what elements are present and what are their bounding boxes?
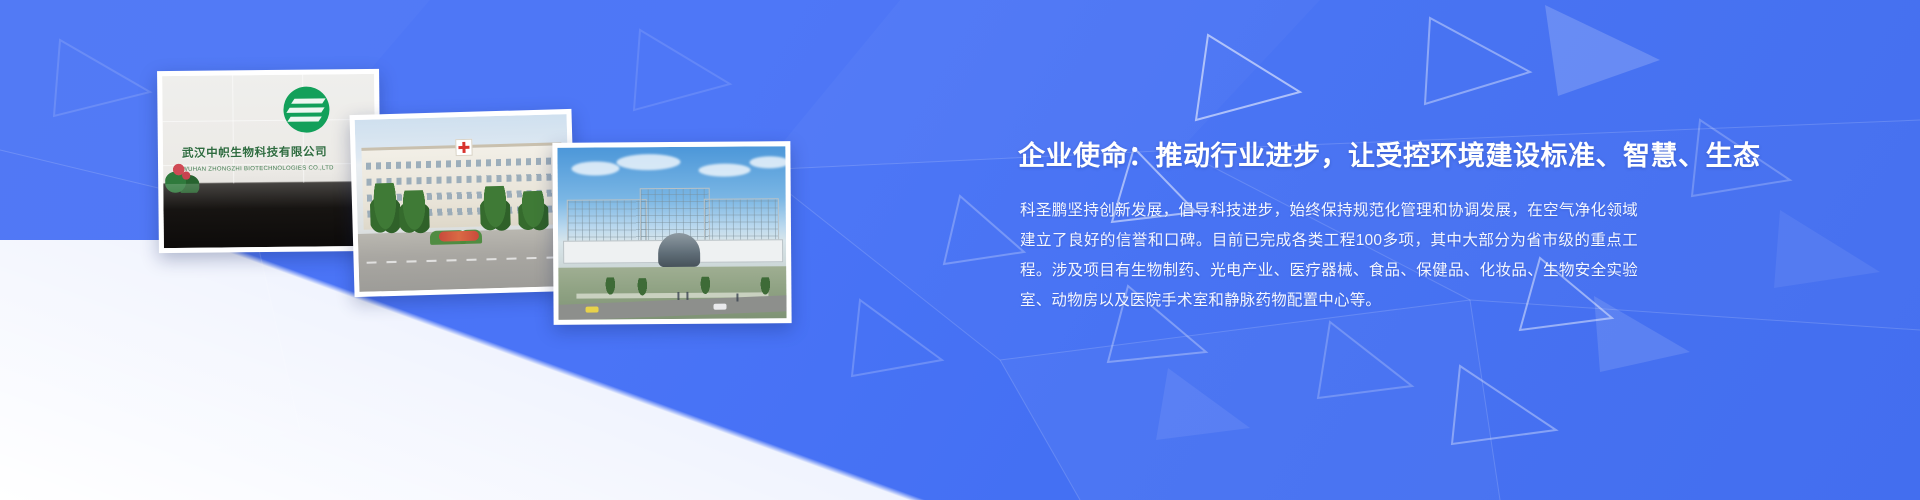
zhongzhi-logo-icon bbox=[283, 86, 329, 132]
photo-lobby-image: 武汉中帜生物科技有限公司 WUHAN ZHONGZHI BIOTECHNOLOG… bbox=[162, 74, 376, 248]
photo-card-hospital[interactable] bbox=[350, 109, 577, 297]
lobby-company-name-cn: 武汉中帜生物科技有限公司 bbox=[182, 143, 327, 161]
banner-body-text: 科圣鹏坚持创新发展，倡导科技进步，始终保持规范化管理和协调发展，在空气净化领域建… bbox=[1020, 196, 1638, 316]
photo-card-lobby[interactable]: 武汉中帜生物科技有限公司 WUHAN ZHONGZHI BIOTECHNOLOG… bbox=[157, 69, 381, 253]
floor-reflection bbox=[163, 182, 376, 248]
lobby-company-name-en: WUHAN ZHONGZHI BIOTECHNOLOGIES CO.,LTD bbox=[182, 165, 334, 173]
banner-headline: 企业使命：推动行业进步，让受控环境建设标准、智慧、生态 bbox=[1018, 140, 1718, 174]
car-icon bbox=[714, 304, 727, 310]
lobby-scene: 武汉中帜生物科技有限公司 WUHAN ZHONGZHI BIOTECHNOLOG… bbox=[162, 74, 376, 248]
banner-copy: 企业使命：推动行业进步，让受控环境建设标准、智慧、生态 科圣鹏坚持创新发展，倡导… bbox=[1018, 0, 1658, 500]
hospital-scene bbox=[355, 114, 572, 292]
car-icon bbox=[586, 307, 599, 313]
photo-gallery: 武汉中帜生物科技有限公司 WUHAN ZHONGZHI BIOTECHNOLOG… bbox=[0, 0, 820, 500]
photo-card-campus[interactable] bbox=[552, 141, 791, 325]
medical-cross-icon bbox=[455, 138, 472, 155]
campus-scene bbox=[557, 146, 786, 320]
hero-banner: 武汉中帜生物科技有限公司 WUHAN ZHONGZHI BIOTECHNOLOG… bbox=[0, 0, 1920, 500]
photo-hospital-image bbox=[355, 114, 572, 292]
photo-campus-image bbox=[557, 146, 786, 320]
